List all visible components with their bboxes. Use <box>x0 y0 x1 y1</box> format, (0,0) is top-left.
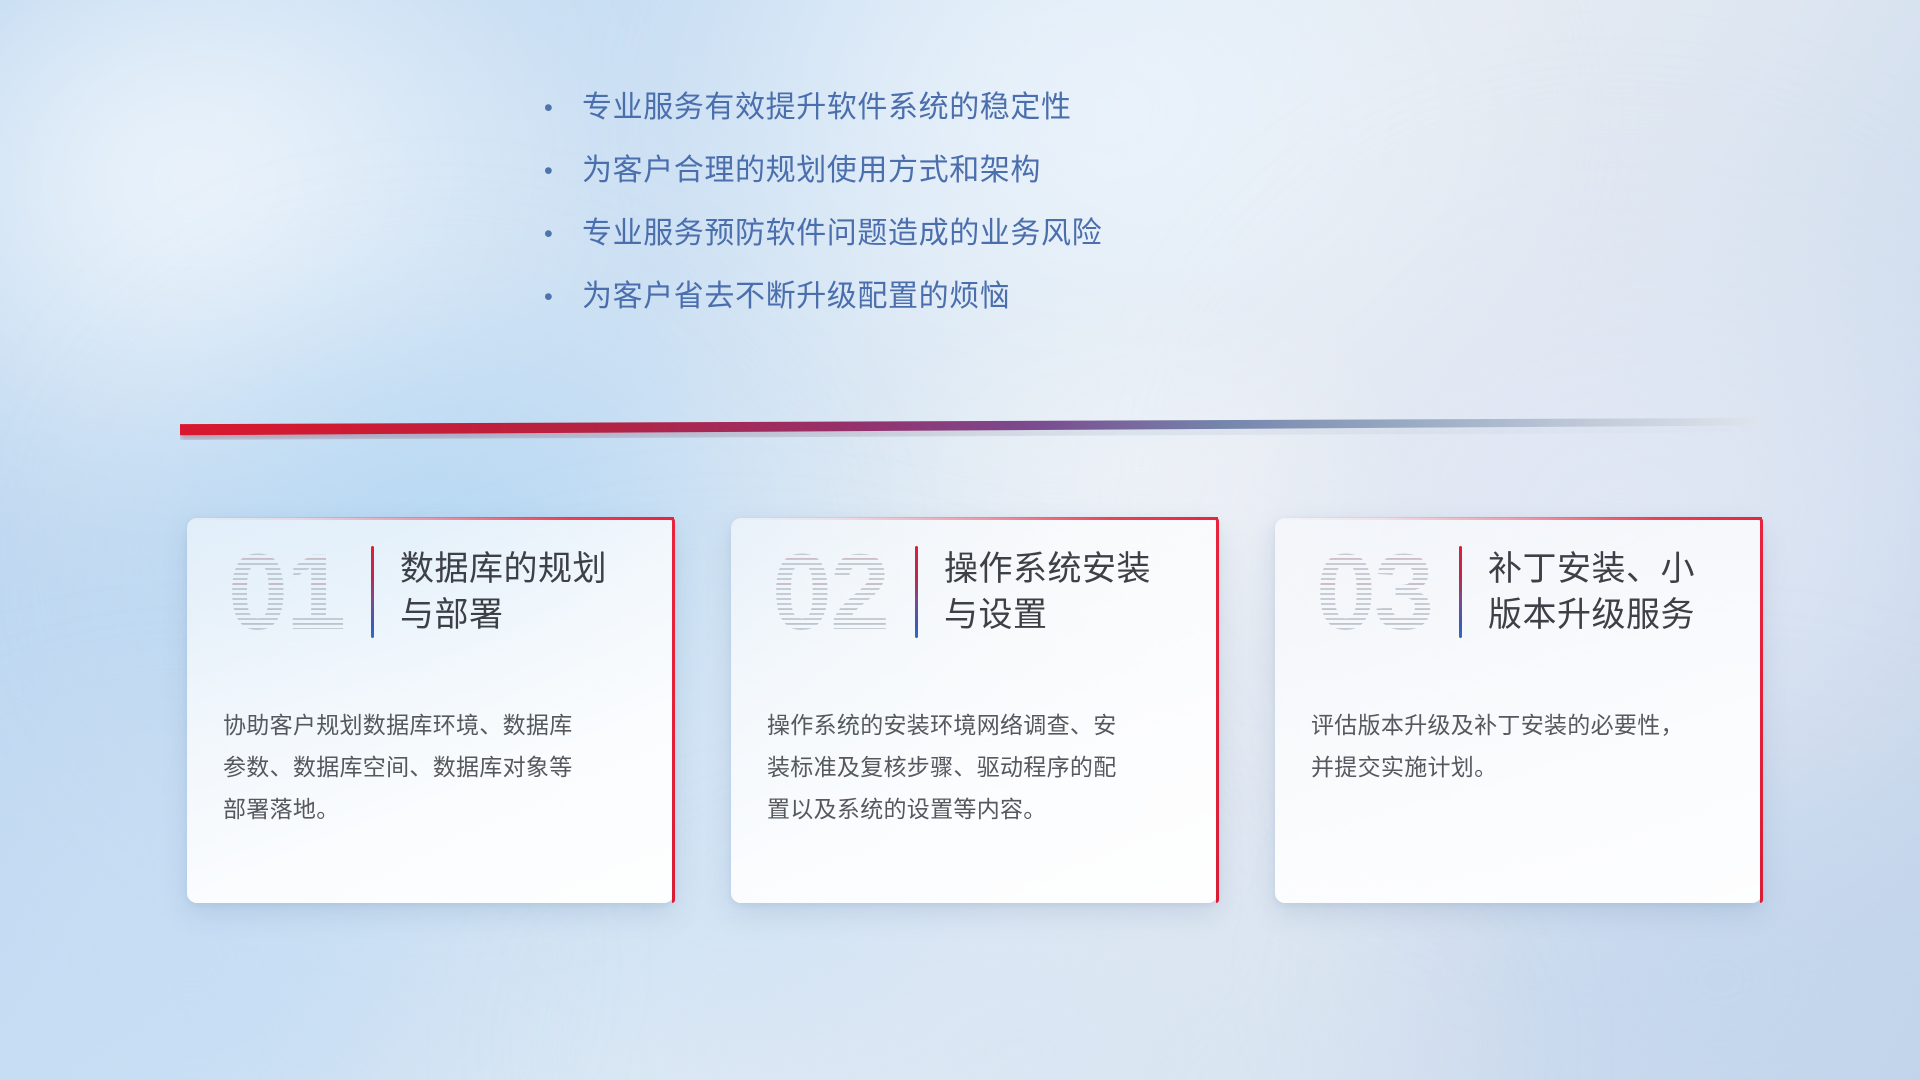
card-title-rule <box>1459 546 1462 638</box>
list-item: • 专业服务有效提升软件系统的稳定性 <box>540 88 1300 151</box>
card-number-03: 03 <box>1299 533 1449 651</box>
service-card-01[interactable]: 01 数据库的规划 与部署 协助客户规划数据库环境、数据库 参数、数据库空间、数… <box>187 518 674 903</box>
service-card-group: 01 数据库的规划 与部署 协助客户规划数据库环境、数据库 参数、数据库空间、数… <box>187 518 1762 903</box>
benefits-bullet-list: • 专业服务有效提升软件系统的稳定性 • 为客户合理的规划使用方式和架构 • 专… <box>540 88 1300 340</box>
card-body-text: 操作系统的安装环境网络调查、安 装标准及复核步骤、驱动程序的配 置以及系统的设置… <box>731 666 1218 830</box>
slide-canvas: • 专业服务有效提升软件系统的稳定性 • 为客户合理的规划使用方式和架构 • 专… <box>0 0 1920 1080</box>
bullet-text: 专业服务有效提升软件系统的稳定性 <box>582 88 1072 128</box>
card-title-rule <box>915 546 918 638</box>
card-number-02: 02 <box>755 533 905 651</box>
bullet-text: 为客户合理的规划使用方式和架构 <box>582 151 1041 191</box>
card-header: 03 补丁安装、小 版本升级服务 <box>1275 518 1762 666</box>
bullet-dot-icon: • <box>540 151 582 191</box>
bullet-dot-icon: • <box>540 214 582 254</box>
service-card-02[interactable]: 02 操作系统安装 与设置 操作系统的安装环境网络调查、安 装标准及复核步骤、驱… <box>731 518 1218 903</box>
bullet-dot-icon: • <box>540 88 582 128</box>
list-item: • 为客户合理的规划使用方式和架构 <box>540 151 1300 214</box>
bullet-text: 为客户省去不断升级配置的烦恼 <box>582 277 1010 317</box>
card-header: 01 数据库的规划 与部署 <box>187 518 674 666</box>
card-title: 数据库的规划 与部署 <box>400 546 607 638</box>
section-divider <box>180 418 1760 436</box>
list-item: • 为客户省去不断升级配置的烦恼 <box>540 277 1300 340</box>
card-body-text: 协助客户规划数据库环境、数据库 参数、数据库空间、数据库对象等 部署落地。 <box>187 666 674 830</box>
card-body-text: 评估版本升级及补丁安装的必要性， 并提交实施计划。 <box>1275 666 1762 788</box>
bullet-text: 专业服务预防软件问题造成的业务风险 <box>582 214 1102 254</box>
card-number-01: 01 <box>211 533 361 651</box>
service-card-03[interactable]: 03 补丁安装、小 版本升级服务 评估版本升级及补丁安装的必要性， 并提交实施计… <box>1275 518 1762 903</box>
bullet-dot-icon: • <box>540 277 582 317</box>
card-header: 02 操作系统安装 与设置 <box>731 518 1218 666</box>
card-title: 补丁安装、小 版本升级服务 <box>1488 546 1695 638</box>
list-item: • 专业服务预防软件问题造成的业务风险 <box>540 214 1300 277</box>
card-title-rule <box>371 546 374 638</box>
card-title: 操作系统安装 与设置 <box>944 546 1151 638</box>
